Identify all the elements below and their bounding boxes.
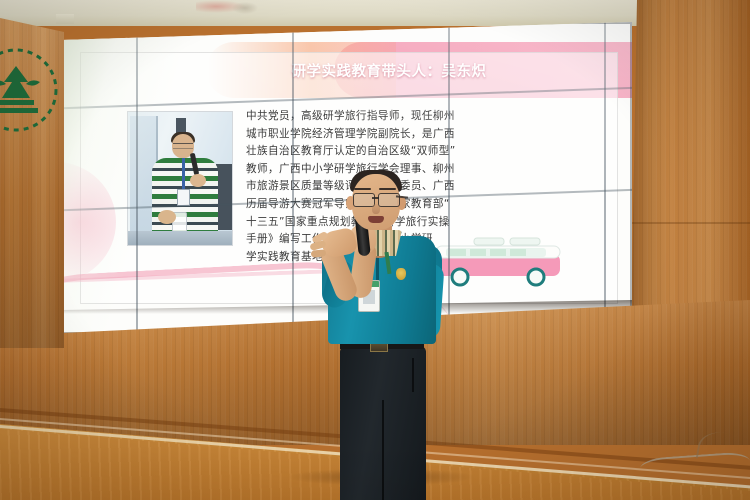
photo-hand-right <box>190 174 206 187</box>
slide-body-line: 城市职业学院经济管理学院副院长，是广西 <box>246 126 546 144</box>
presenter-trouser-seam <box>382 400 384 500</box>
presenter-shirt-emblem <box>396 268 406 280</box>
photo-id-badge <box>177 189 190 206</box>
slide-body-line: 中共党员，高级研学旅行指导师，现任柳州 <box>246 108 546 126</box>
presenter-mouth <box>368 216 384 223</box>
wall-smudge-grey <box>232 2 258 14</box>
photo-glasses-icon <box>173 143 193 149</box>
presenter-figure <box>300 168 470 500</box>
photo-scene: 研学实践教育带头人：吴东炽 中共党员，高 <box>0 0 750 500</box>
institution-emblem-icon <box>0 42 64 138</box>
slide-title: 研学实践教育带头人：吴东炽 <box>224 50 554 90</box>
presenter-trouser-pocket <box>412 358 414 392</box>
wood-wall-right-seam <box>629 222 750 224</box>
photo-lanyard <box>182 158 185 192</box>
wall-pale-strip <box>56 14 74 24</box>
slide-body-line: 壮族自治区教育厅认定的自治区级“双师型” <box>246 143 546 161</box>
photo-table <box>128 231 232 245</box>
presenter-nose <box>372 204 380 214</box>
videowall-seam-vertical <box>136 22 138 334</box>
videowall-seam-vertical <box>604 22 606 334</box>
eyeglasses-bridge <box>372 197 379 199</box>
photo-hand-left <box>158 210 176 224</box>
slide-portrait-photo <box>128 112 232 245</box>
videowall-seam-vertical <box>292 22 294 334</box>
photo-dark-panel <box>216 164 232 230</box>
